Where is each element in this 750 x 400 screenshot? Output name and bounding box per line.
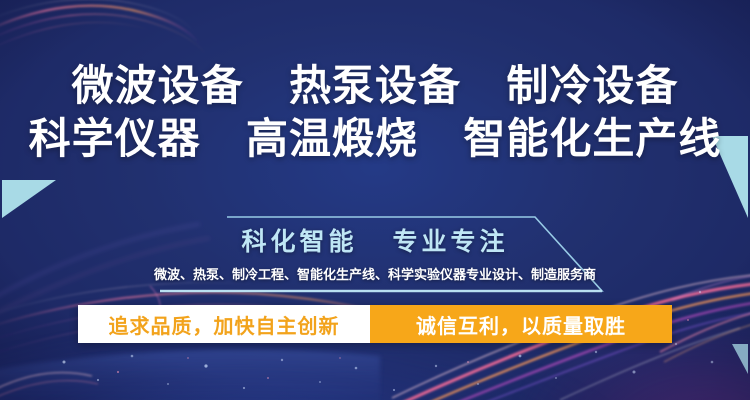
headline-term-microwave: 微波设备 xyxy=(72,62,244,109)
slogan-bar: 追求品质，加快自主创新 诚信互利，以质量取胜 xyxy=(78,305,672,343)
headline-term-instruments: 科学仪器 xyxy=(29,115,201,162)
chevron-left-icon xyxy=(2,180,56,218)
headline-line-1: 微波设备 热泵设备 制冷设备 xyxy=(0,64,750,109)
headline-term-heatpump: 热泵设备 xyxy=(289,62,461,109)
plate-term-professional: 专业专注 xyxy=(392,228,508,256)
slogan-quality[interactable]: 追求品质，加快自主创新 xyxy=(78,305,370,343)
slogan-integrity[interactable]: 诚信互利，以质量取胜 xyxy=(370,305,672,343)
headline-block: 微波设备 热泵设备 制冷设备 科学仪器 高温煅烧 智能化生产线 xyxy=(0,64,750,161)
headline-term-calcination: 高温煅烧 xyxy=(246,115,418,162)
headline-line-2: 科学仪器 高温煅烧 智能化生产线 xyxy=(0,117,750,162)
chevron-right-small-icon xyxy=(732,344,748,374)
promo-banner: 微波设备 热泵设备 制冷设备 科学仪器 高温煅烧 智能化生产线 科化智能 专业专… xyxy=(0,0,750,400)
plate-headline: 科化智能 专业专注 xyxy=(0,222,750,258)
headline-term-refrigeration: 制冷设备 xyxy=(506,62,678,109)
headline-term-smartline: 智能化生产线 xyxy=(463,115,721,162)
plate-subtitle: 微波、热泵、制冷工程、智能化生产线、科学实验仪器专业设计、制造服务商 xyxy=(0,264,750,283)
plate-term-smart-tech: 科化智能 xyxy=(242,228,358,256)
